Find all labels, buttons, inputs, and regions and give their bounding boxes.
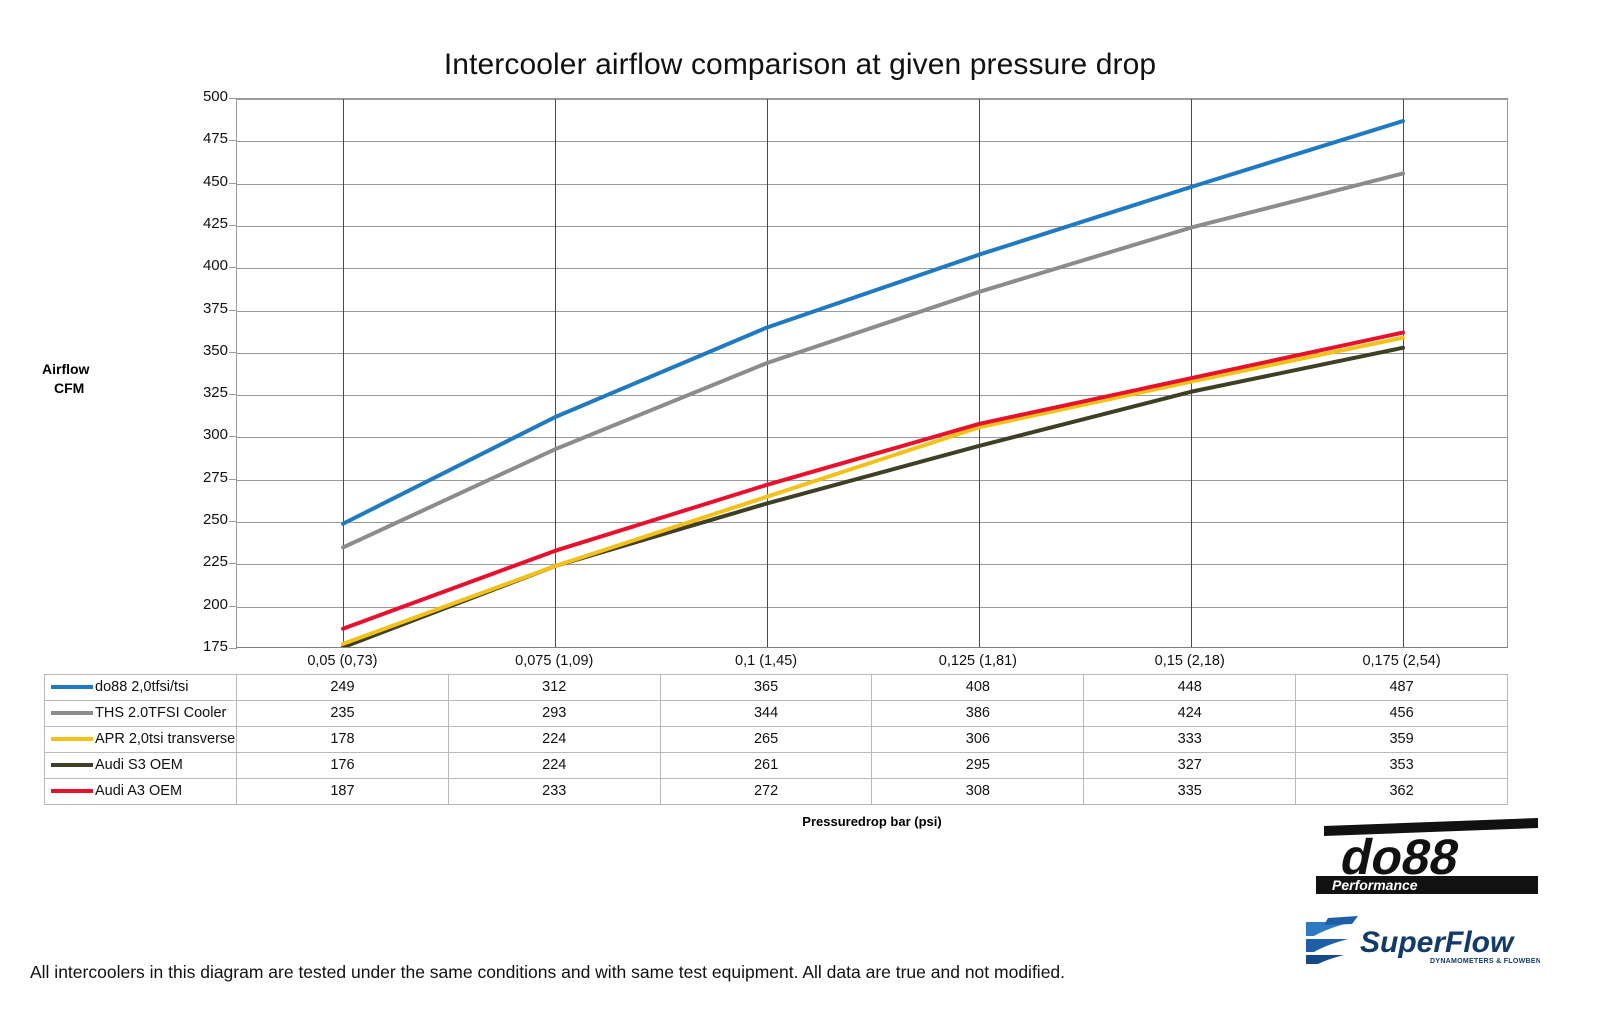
superflow-logo-tagline: DYNAMOMETERS & FLOWBENCHES bbox=[1430, 958, 1540, 965]
table-row[interactable]: do88 2,0tfsi/tsi249312365408448487 bbox=[45, 674, 1508, 700]
page-title: Intercooler airflow comparison at given … bbox=[0, 48, 1600, 82]
table-cell-value: 333 bbox=[1084, 726, 1296, 752]
y-axis-tick-mark bbox=[229, 352, 237, 353]
table-cell-value: 312 bbox=[448, 674, 660, 700]
y-axis-tick-label: 375 bbox=[176, 300, 228, 317]
y-axis-tick-mark bbox=[229, 225, 237, 226]
y-axis-tick-mark bbox=[229, 394, 237, 395]
y-axis-tick-label: 450 bbox=[176, 173, 228, 190]
y-axis-title: Airflow CFM bbox=[42, 360, 152, 398]
series-line bbox=[343, 338, 1403, 644]
table-cell-value: 456 bbox=[1296, 700, 1508, 726]
do88-performance-logo: do88 Performance bbox=[1302, 818, 1538, 894]
table-cell-value: 327 bbox=[1084, 752, 1296, 778]
y-axis-tick-mark bbox=[229, 479, 237, 480]
legend-label: do88 2,0tfsi/tsi bbox=[95, 679, 189, 695]
y-axis-tick-label: 200 bbox=[176, 596, 228, 613]
superflow-logo: SuperFlow DYNAMOMETERS & FLOWBENCHES bbox=[1302, 912, 1540, 968]
series-line bbox=[343, 173, 1403, 547]
table-row[interactable]: THS 2.0TFSI Cooler235293344386424456 bbox=[45, 700, 1508, 726]
y-axis-tick-label: 500 bbox=[176, 88, 228, 105]
x-axis-tick-label: 0,15 (2,18) bbox=[1084, 648, 1296, 674]
legend-color-swatch-icon bbox=[51, 737, 93, 741]
x-axis-tick-label: 0,1 (1,45) bbox=[660, 648, 872, 674]
series-line bbox=[343, 348, 1403, 647]
table-header-blank bbox=[45, 648, 237, 674]
table-header-row: 0,05 (0,73)0,075 (1,09)0,1 (1,45)0,125 (… bbox=[45, 648, 1508, 674]
table-cell-value: 362 bbox=[1296, 778, 1508, 804]
x-axis-tick-label: 0,125 (1,81) bbox=[872, 648, 1084, 674]
table-cell-value: 233 bbox=[448, 778, 660, 804]
y-axis-tick-label: 425 bbox=[176, 215, 228, 232]
table-cell-value: 235 bbox=[237, 700, 449, 726]
y-axis-tick-mark bbox=[229, 606, 237, 607]
superflow-swoosh-icon bbox=[1306, 916, 1358, 964]
x-axis-tick-label: 0,175 (2,54) bbox=[1296, 648, 1508, 674]
legend-label: Audi A3 OEM bbox=[95, 783, 182, 799]
data-table-wrapper: 0,05 (0,73)0,075 (1,09)0,1 (1,45)0,125 (… bbox=[44, 648, 1508, 805]
legend-color-swatch-icon bbox=[51, 711, 93, 715]
y-axis-tick-mark bbox=[229, 98, 237, 99]
table-cell-value: 224 bbox=[448, 752, 660, 778]
y-axis-tick-mark bbox=[229, 521, 237, 522]
table-cell-value: 293 bbox=[448, 700, 660, 726]
table-cell-value: 359 bbox=[1296, 726, 1508, 752]
table-cell-value: 353 bbox=[1296, 752, 1508, 778]
chart-page: Intercooler airflow comparison at given … bbox=[0, 0, 1600, 1028]
table-row[interactable]: Audi S3 OEM176224261295327353 bbox=[45, 752, 1508, 778]
legend-item[interactable]: THS 2.0TFSI Cooler bbox=[45, 700, 237, 726]
legend-label: APR 2,0tsi transverse bbox=[95, 731, 235, 747]
legend-color-swatch-icon bbox=[51, 685, 93, 689]
legend-color-swatch-icon bbox=[51, 763, 93, 767]
y-axis-tick-mark bbox=[229, 310, 237, 311]
legend-label: Audi S3 OEM bbox=[95, 757, 183, 773]
legend-item[interactable]: do88 2,0tfsi/tsi bbox=[45, 674, 237, 700]
legend-item[interactable]: APR 2,0tsi transverse bbox=[45, 726, 237, 752]
table-cell-value: 187 bbox=[237, 778, 449, 804]
y-axis-title-line2: CFM bbox=[42, 379, 152, 398]
y-axis-tick-mark bbox=[229, 140, 237, 141]
table-cell-value: 265 bbox=[660, 726, 872, 752]
data-table: 0,05 (0,73)0,075 (1,09)0,1 (1,45)0,125 (… bbox=[44, 648, 1508, 805]
table-cell-value: 448 bbox=[1084, 674, 1296, 700]
table-cell-value: 487 bbox=[1296, 674, 1508, 700]
table-cell-value: 176 bbox=[237, 752, 449, 778]
table-cell-value: 272 bbox=[660, 778, 872, 804]
y-axis-tick-label: 325 bbox=[176, 384, 228, 401]
table-cell-value: 295 bbox=[872, 752, 1084, 778]
superflow-logo-text: SuperFlow bbox=[1360, 926, 1515, 959]
y-axis-tick-mark bbox=[229, 267, 237, 268]
y-axis-tick-mark bbox=[229, 183, 237, 184]
table-row[interactable]: Audi A3 OEM187233272308335362 bbox=[45, 778, 1508, 804]
table-cell-value: 424 bbox=[1084, 700, 1296, 726]
table-cell-value: 365 bbox=[660, 674, 872, 700]
table-cell-value: 178 bbox=[237, 726, 449, 752]
y-axis-tick-label: 350 bbox=[176, 342, 228, 359]
legend-item[interactable]: Audi S3 OEM bbox=[45, 752, 237, 778]
y-axis-tick-mark bbox=[229, 563, 237, 564]
legend-item[interactable]: Audi A3 OEM bbox=[45, 778, 237, 804]
table-row[interactable]: APR 2,0tsi transverse178224265306333359 bbox=[45, 726, 1508, 752]
do88-logo-tagline: Performance bbox=[1332, 877, 1418, 893]
table-cell-value: 249 bbox=[237, 674, 449, 700]
x-axis-tick-label: 0,075 (1,09) bbox=[448, 648, 660, 674]
legend-label: THS 2.0TFSI Cooler bbox=[95, 705, 226, 721]
table-cell-value: 306 bbox=[872, 726, 1084, 752]
table-cell-value: 335 bbox=[1084, 778, 1296, 804]
table-cell-value: 408 bbox=[872, 674, 1084, 700]
table-cell-value: 344 bbox=[660, 700, 872, 726]
y-axis-tick-label: 225 bbox=[176, 553, 228, 570]
x-axis-tick-label: 0,05 (0,73) bbox=[237, 648, 449, 674]
y-axis-tick-label: 250 bbox=[176, 511, 228, 528]
y-axis-tick-label: 400 bbox=[176, 257, 228, 274]
table-cell-value: 308 bbox=[872, 778, 1084, 804]
y-axis-tick-label: 300 bbox=[176, 426, 228, 443]
legend-color-swatch-icon bbox=[51, 789, 93, 793]
series-lines bbox=[237, 99, 1507, 647]
y-axis-tick-label: 275 bbox=[176, 469, 228, 486]
y-axis-tick-label: 475 bbox=[176, 130, 228, 147]
table-cell-value: 224 bbox=[448, 726, 660, 752]
plot-area bbox=[236, 98, 1508, 648]
y-axis-title-line1: Airflow bbox=[42, 360, 152, 379]
footer-note: All intercoolers in this diagram are tes… bbox=[30, 962, 1065, 983]
table-cell-value: 386 bbox=[872, 700, 1084, 726]
table-cell-value: 261 bbox=[660, 752, 872, 778]
y-axis-tick-mark bbox=[229, 436, 237, 437]
